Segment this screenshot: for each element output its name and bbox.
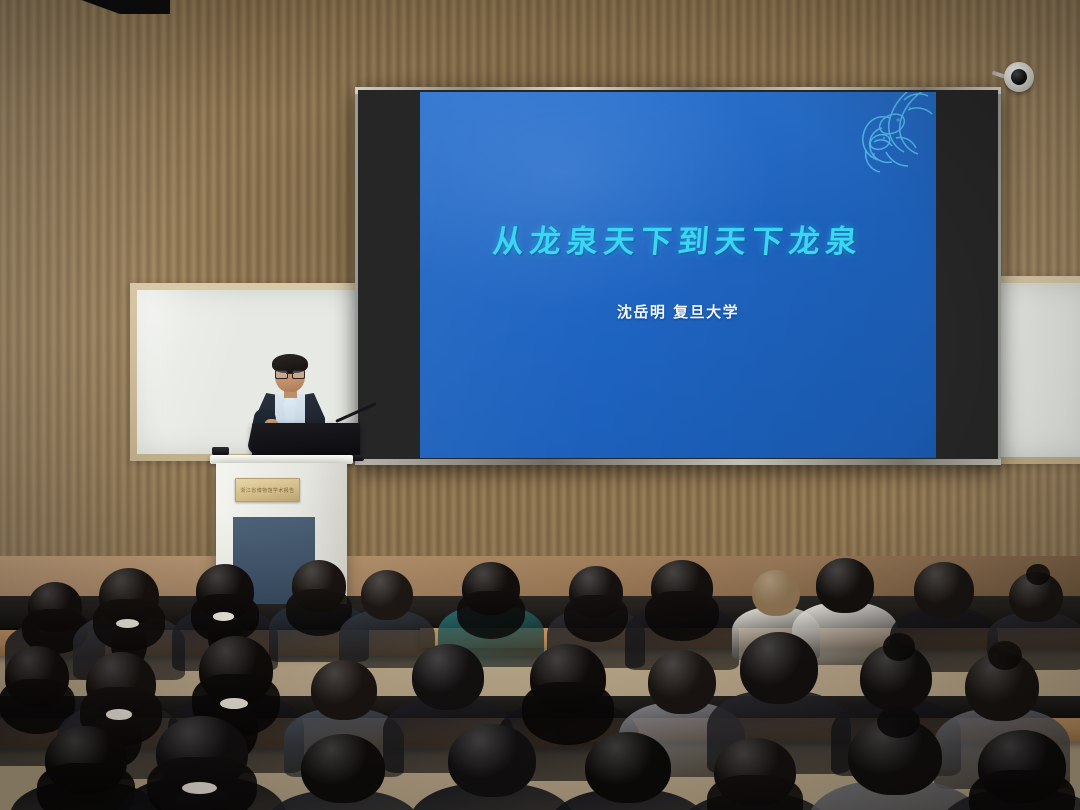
hair-tie [220, 698, 248, 709]
audience-person [1000, 572, 1072, 652]
audience-person [700, 738, 810, 810]
podium-device [212, 447, 229, 455]
audience-person [140, 716, 264, 810]
audience-person-hair [645, 591, 719, 641]
audience-person [962, 730, 1080, 810]
audience-person-hair [969, 770, 1075, 810]
audience-person [352, 570, 422, 650]
audience-person-head [361, 570, 413, 620]
audience-person-head [648, 650, 716, 714]
camera-lens [1011, 69, 1027, 85]
audience-person [904, 562, 984, 652]
audience-person-hair [564, 595, 627, 642]
ceiling-corner-shadow [0, 0, 170, 14]
audience-person-head [914, 562, 973, 618]
audience-person-head [752, 570, 799, 616]
audience-person [832, 718, 958, 810]
hair-tie [116, 619, 139, 628]
podium-plaque: 浙江省博物馆学术报告 [235, 478, 300, 502]
audience-person [726, 632, 832, 748]
audience-person [88, 568, 170, 660]
audience-person-hair [707, 775, 804, 810]
audience-person-head [585, 732, 671, 803]
audience-person [570, 732, 686, 810]
wall-camera-icon [1004, 62, 1034, 92]
slide-title: 从龙泉天下到天下龙泉 [420, 216, 936, 261]
audience-person-head [412, 644, 483, 710]
podium-plaque-text: 浙江省博物馆学术报告 [240, 487, 294, 494]
audience-person [286, 734, 400, 810]
audience-person [560, 566, 632, 650]
audience-person-bun [1026, 564, 1050, 585]
audience-person [640, 560, 724, 650]
slide-subtitle: 沈岳明 复旦大学 [420, 301, 936, 322]
hair-tie [182, 782, 217, 794]
audience-person-bun [988, 641, 1022, 670]
hair-tie [106, 709, 132, 719]
presentation-slide: 从龙泉天下到天下龙泉 沈岳明 复旦大学 [420, 92, 936, 458]
audience-person-head [740, 632, 818, 704]
dragon-decoration-icon [820, 92, 936, 192]
audience-area [0, 548, 1080, 810]
audience-person-head [448, 724, 537, 797]
audience-person [432, 724, 552, 810]
audience-person [452, 562, 530, 648]
projection-screen: 从龙泉天下到天下龙泉 沈岳明 复旦大学 [355, 87, 1001, 465]
audience-person-head [301, 734, 385, 803]
podium-monitor [252, 423, 360, 457]
screen-panel: 从龙泉天下到天下龙泉 沈岳明 复旦大学 [358, 90, 998, 462]
audience-person-head [816, 558, 874, 613]
lecture-hall-photo: 从龙泉天下到天下龙泉 沈岳明 复旦大学 浙江省博物馆学术报告 [0, 0, 1080, 810]
audience-person-head [311, 660, 376, 720]
speaker-glasses-icon [275, 370, 305, 377]
audience-person-bun [877, 706, 920, 738]
